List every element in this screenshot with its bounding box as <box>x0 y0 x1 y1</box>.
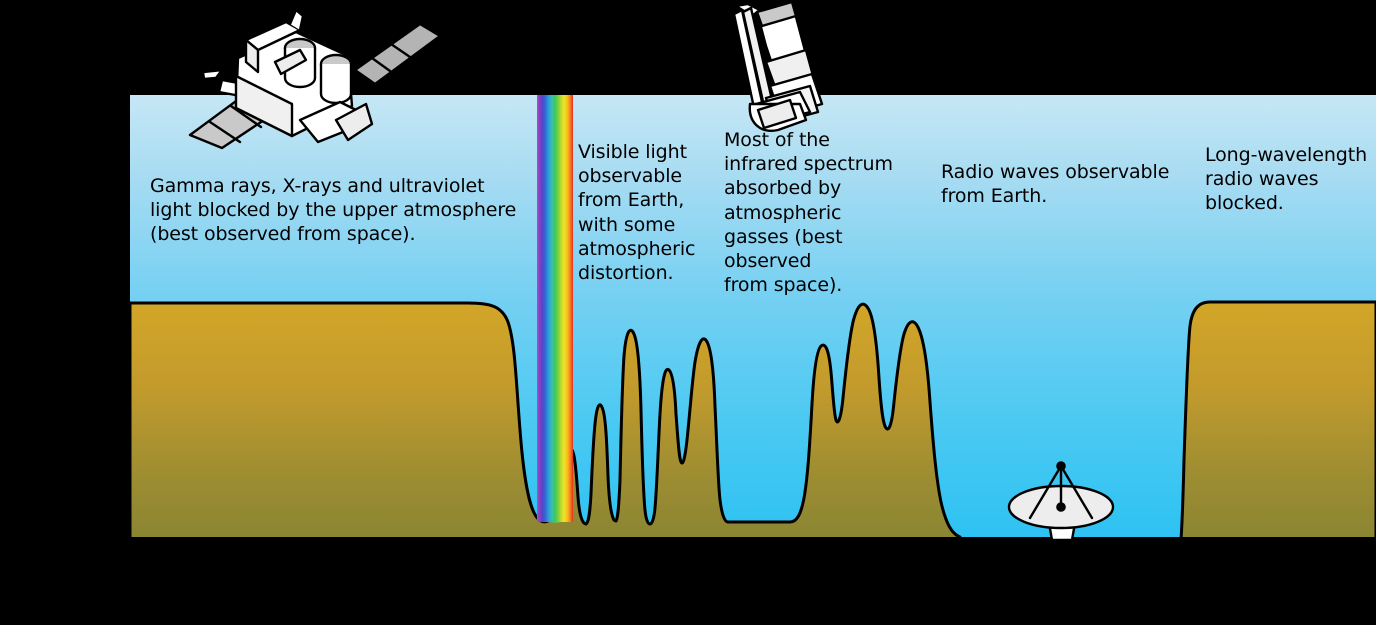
diagram-canvas: Gamma rays, X-rays and ultraviolet light… <box>0 0 1376 625</box>
atmospheric-opacity-diagram <box>0 0 1376 625</box>
caption-radio-waves: Radio waves observable from Earth. <box>941 160 1191 208</box>
longwave-opacity-block <box>1181 302 1376 540</box>
caption-visible-light: Visible light observable from Earth, wit… <box>578 140 708 285</box>
caption-infrared: Most of the infrared spectrum absorbed b… <box>724 128 919 297</box>
caption-gamma-xray-uv: Gamma rays, X-rays and ultraviolet light… <box>150 174 550 247</box>
visible-light-rainbow <box>537 95 573 522</box>
caption-long-wavelength-radio: Long-wavelength radio waves blocked. <box>1205 143 1376 216</box>
